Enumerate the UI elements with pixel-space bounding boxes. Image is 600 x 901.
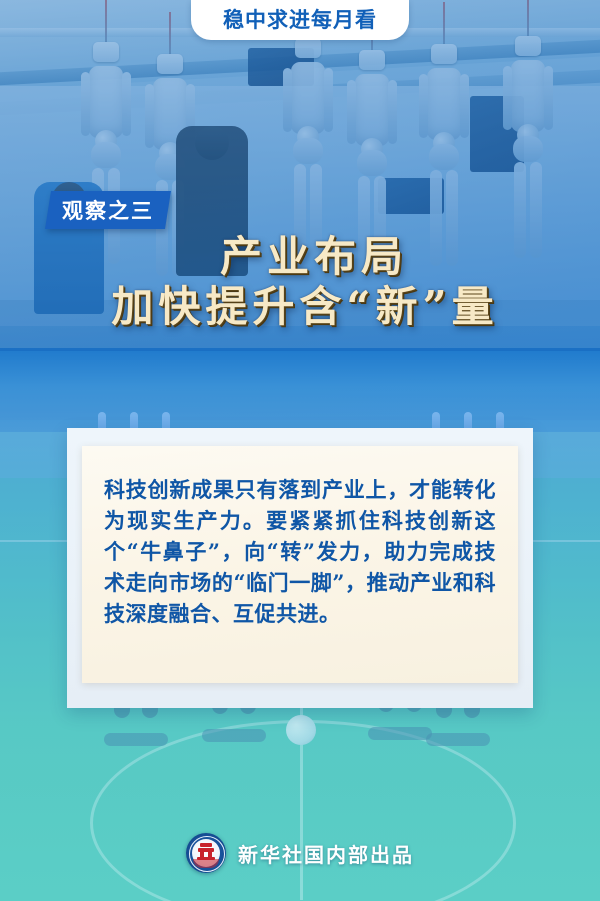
footer-label: 新华社国内部出品 — [238, 839, 414, 868]
observation-tag-label: 观察之三 — [48, 191, 168, 229]
headline-line-1: 产业布局 — [0, 232, 600, 282]
note-card-paper: 科技创新成果只有落到产业上，才能转化为现实生产力。要紧紧抓住科技创新这个“牛鼻子… — [82, 446, 518, 683]
band-edge-line — [0, 348, 600, 351]
series-banner-label: 稳中求进每月看 — [223, 10, 377, 31]
observation-tag: 观察之三 — [45, 191, 171, 229]
series-banner: 稳中求进每月看 — [191, 0, 409, 40]
headline-line-2: 加快提升含“新”量 — [0, 282, 600, 332]
xinhua-news-agency-logo-icon — [186, 833, 226, 873]
note-card: 科技创新成果只有落到产业上，才能转化为现实生产力。要紧紧抓住科技创新这个“牛鼻子… — [67, 428, 533, 708]
headline: 产业布局 加快提升含“新”量 — [0, 232, 600, 332]
footer: 新华社国内部出品 — [0, 828, 600, 878]
quote-text: 科技创新成果只有落到产业上，才能转化为现实生产力。要紧紧抓住科技创新这个“牛鼻子… — [104, 474, 496, 629]
poster: 稳中求进每月看 观察之三 产业布局 加快提升含“新”量 科技创新成果只有落到产业… — [0, 0, 600, 901]
